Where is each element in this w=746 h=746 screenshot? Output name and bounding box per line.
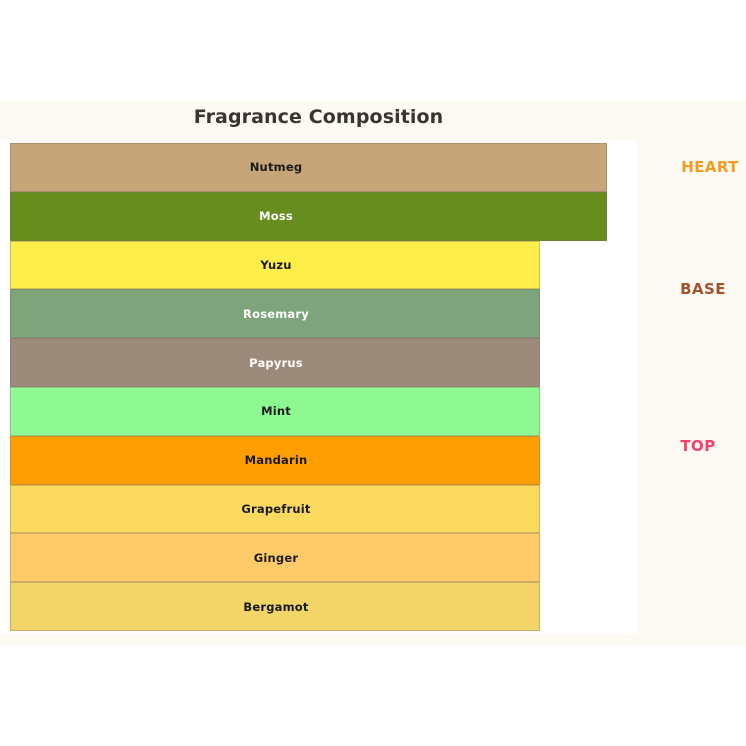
bar-label: Rosemary — [243, 306, 309, 322]
bar-mandarin[interactable]: Mandarin — [10, 436, 540, 485]
bar-label: Nutmeg — [250, 159, 303, 175]
group-label-top: TOP — [680, 437, 715, 455]
bar-papyrus[interactable]: Papyrus — [10, 338, 540, 387]
bar-series: NutmegMossYuzuRosemaryPapyrusMintMandari… — [0, 143, 637, 631]
bar-label: Grapefruit — [241, 501, 310, 517]
bar-label: Bergamot — [243, 599, 308, 615]
bar-ginger[interactable]: Ginger — [10, 533, 540, 582]
group-label-base: BASE — [680, 280, 726, 298]
bar-label: Papyrus — [249, 355, 303, 371]
bar-label: Mint — [261, 403, 291, 419]
group-label-heart: HEART — [681, 158, 739, 176]
bar-mint[interactable]: Mint — [10, 387, 540, 436]
bar-nutmeg[interactable]: Nutmeg — [10, 143, 607, 192]
bar-bergamot[interactable]: Bergamot — [10, 582, 540, 631]
bar-label: Moss — [259, 208, 293, 224]
bar-yuzu[interactable]: Yuzu — [10, 241, 540, 290]
bar-label: Ginger — [254, 550, 298, 566]
bar-grapefruit[interactable]: Grapefruit — [10, 485, 540, 534]
bar-rosemary[interactable]: Rosemary — [10, 289, 540, 338]
bar-label: Mandarin — [245, 452, 308, 468]
page-title: Fragrance Composition — [0, 106, 637, 128]
bar-label: Yuzu — [260, 257, 291, 273]
bar-moss[interactable]: Moss — [10, 192, 607, 241]
chart-canvas: Fragrance Composition NutmegMossYuzuRose… — [0, 0, 746, 746]
